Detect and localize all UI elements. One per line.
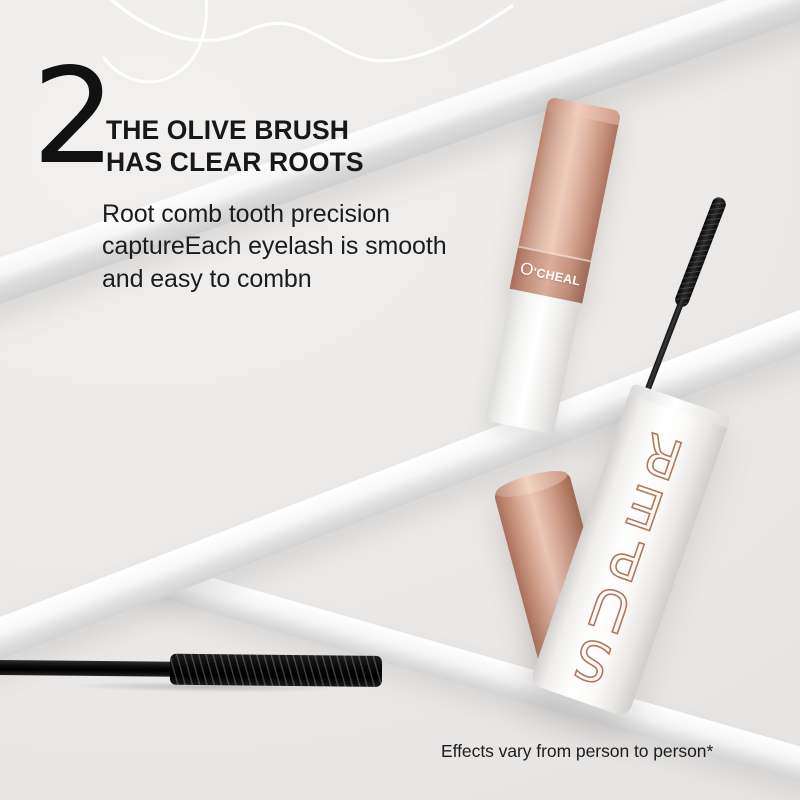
- brand-rest: CHEAL: [535, 266, 581, 289]
- brush-head-upper: [673, 195, 728, 308]
- wand-stem-lower: [0, 660, 178, 677]
- body-line-1: Root comb tooth precision: [102, 198, 522, 230]
- headline-line-1: THE OLIVE BRUSH: [106, 114, 364, 146]
- step-number: 2: [32, 62, 114, 173]
- brush-head-lower: [170, 654, 382, 687]
- headline-line-2: HAS CLEAR ROOTS: [106, 146, 364, 178]
- body-line-3: and easy to combn: [102, 263, 522, 295]
- super-letter-s: S: [568, 631, 617, 689]
- mascara-wand-lower: [0, 648, 400, 692]
- body-copy: Root comb tooth precision captureEach ey…: [102, 198, 522, 295]
- brand-label: O'CHEAL: [518, 259, 582, 291]
- disclaimer-text: Effects vary from person to person*: [441, 741, 713, 762]
- product-ad-canvas: 2 THE OLIVE BRUSH HAS CLEAR ROOTS Root c…: [0, 0, 800, 800]
- body-line-2: captureEach eyelash is smooth: [102, 230, 522, 262]
- headline: THE OLIVE BRUSH HAS CLEAR ROOTS: [106, 114, 364, 178]
